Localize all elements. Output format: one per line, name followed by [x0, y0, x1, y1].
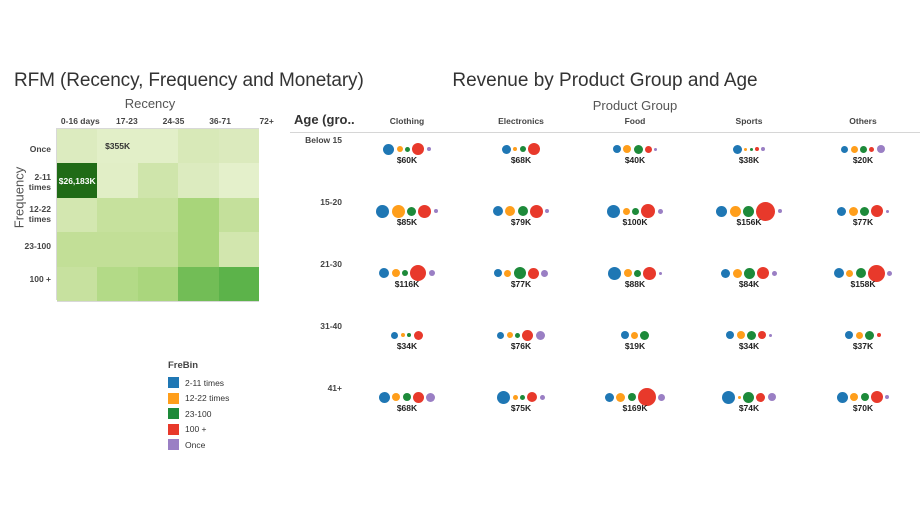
bubble-marker[interactable] — [744, 148, 747, 151]
bubble-cell[interactable]: $76K — [464, 319, 578, 381]
bubble-marker[interactable] — [772, 271, 777, 276]
heatmap-cell[interactable] — [97, 267, 137, 301]
bubble-marker[interactable] — [640, 331, 649, 340]
bubble-value-label: $37K — [806, 341, 920, 351]
bubble-cell[interactable]: $85K — [350, 195, 464, 257]
bubble-marker[interactable] — [659, 272, 662, 275]
bubble-value-label: $77K — [464, 279, 578, 289]
heatmap-cell[interactable] — [138, 232, 178, 266]
bubble-marker[interactable] — [520, 395, 525, 400]
legend-item[interactable]: 23-100 — [168, 406, 288, 422]
bubble-marker[interactable] — [401, 333, 405, 337]
bubble-value-label: $34K — [350, 341, 464, 351]
product-group-column-header[interactable]: Electronics — [464, 116, 578, 126]
bubble-value-label: $70K — [806, 403, 920, 413]
heatmap-cell[interactable] — [219, 163, 259, 197]
bubble-marker[interactable] — [434, 209, 438, 213]
legend-item[interactable]: 100 + — [168, 422, 288, 438]
bubble-marker[interactable] — [837, 207, 846, 216]
bubble-value-label: $77K — [806, 217, 920, 227]
legend-color-swatch — [168, 424, 179, 435]
bubble-marker[interactable] — [528, 268, 539, 279]
revenue-title: Revenue by Product Group and Age — [290, 70, 920, 92]
bubble-cell[interactable]: $37K — [806, 319, 920, 381]
bubble-marker[interactable] — [405, 147, 410, 152]
bubble-marker[interactable] — [502, 145, 511, 154]
bubble-cell[interactable]: $100K — [578, 195, 692, 257]
bubble-marker[interactable] — [530, 205, 543, 218]
bubble-marker[interactable] — [545, 209, 549, 213]
bubble-cell[interactable]: $20K — [806, 133, 920, 195]
legend-item-label: 12-22 times — [185, 393, 229, 403]
legend-item[interactable]: 2-11 times — [168, 375, 288, 391]
heatmap-cell[interactable] — [178, 163, 218, 197]
bubble-marker[interactable] — [743, 392, 754, 403]
bubble-marker[interactable] — [885, 395, 889, 399]
bubble-marker[interactable] — [624, 269, 632, 277]
bubble-marker[interactable] — [426, 393, 435, 402]
product-group-column-header[interactable]: Sports — [692, 116, 806, 126]
bubble-marker[interactable] — [520, 146, 526, 152]
bubble-marker[interactable] — [845, 331, 853, 339]
bubble-cell[interactable]: $34K — [350, 319, 464, 381]
heatmap-cell[interactable] — [57, 232, 97, 266]
heatmap-cell[interactable] — [178, 129, 218, 163]
bubble-marker[interactable] — [768, 393, 776, 401]
bubble-marker[interactable] — [623, 208, 630, 215]
heatmap-cell[interactable] — [219, 129, 259, 163]
bubble-marker[interactable] — [376, 205, 389, 218]
bubble-marker[interactable] — [392, 393, 400, 401]
bubble-marker[interactable] — [536, 331, 545, 340]
heatmap-cell[interactable] — [138, 163, 178, 197]
bubble-cell[interactable]: $77K — [806, 195, 920, 257]
recency-column-headers: 0-16 days17-2324-3536-7172+ — [57, 116, 290, 126]
legend-item[interactable]: Once — [168, 437, 288, 453]
heatmap-cell-label: $355K — [97, 141, 137, 151]
bubble-value-label: $60K — [350, 155, 464, 165]
bubble-marker[interactable] — [522, 330, 533, 341]
revenue-bubble-panel: Revenue by Product Group and Age Product… — [290, 62, 920, 462]
bubble-marker[interactable] — [658, 394, 665, 401]
bubble-cell[interactable]: $77K — [464, 257, 578, 319]
bubble-value-label: $100K — [578, 217, 692, 227]
bubble-marker[interactable] — [851, 146, 858, 153]
heatmap-cell[interactable] — [178, 198, 218, 232]
bubble-marker[interactable] — [877, 333, 881, 337]
bubble-marker[interactable] — [616, 393, 625, 402]
frequency-row-header[interactable]: 100 + — [6, 263, 54, 295]
bubble-marker[interactable] — [733, 145, 742, 154]
bubble-marker[interactable] — [628, 393, 636, 401]
bubble-marker[interactable] — [504, 270, 511, 277]
bubble-cell[interactable]: $79K — [464, 195, 578, 257]
bubble-marker[interactable] — [871, 205, 883, 217]
bubble-marker[interactable] — [391, 332, 398, 339]
legend-title: FreBin — [168, 360, 288, 371]
bubble-value-label: $74K — [692, 403, 806, 413]
heatmap-cell[interactable] — [57, 198, 97, 232]
heatmap-cell[interactable] — [219, 267, 259, 301]
bubble-marker[interactable] — [392, 269, 400, 277]
bubble-marker[interactable] — [747, 331, 756, 340]
age-axis-title: Age (gro.. — [294, 112, 355, 127]
bubble-value-label: $75K — [464, 403, 578, 413]
bubble-value-label: $40K — [578, 155, 692, 165]
heatmap-cell[interactable] — [97, 198, 137, 232]
bubble-marker[interactable] — [623, 145, 631, 153]
legend-color-swatch — [168, 408, 179, 419]
bubble-row: 21-30$116K$77K$88K$84K$158K — [290, 257, 920, 319]
bubble-cell[interactable]: $74K — [692, 381, 806, 443]
bubble-marker[interactable] — [513, 395, 518, 400]
bubble-marker[interactable] — [605, 393, 614, 402]
bubble-marker[interactable] — [871, 391, 883, 403]
bubble-marker[interactable] — [716, 206, 727, 217]
age-row-header[interactable]: Below 15 — [290, 133, 350, 145]
bubble-marker[interactable] — [860, 207, 869, 216]
age-row-header[interactable]: 31-40 — [290, 319, 350, 331]
legend-item-label: 23-100 — [185, 409, 211, 419]
bubble-value-label: $76K — [464, 341, 578, 351]
legend-color-swatch — [168, 377, 179, 388]
product-group-column-headers: ClothingElectronicsFoodSportsOthers — [350, 116, 920, 126]
bubble-marker[interactable] — [613, 145, 621, 153]
bubble-marker[interactable] — [634, 270, 641, 277]
bubble-marker[interactable] — [379, 268, 389, 278]
bubble-cell[interactable]: $68K — [464, 133, 578, 195]
bubble-marker[interactable] — [645, 146, 652, 153]
bubble-marker[interactable] — [856, 332, 863, 339]
bubble-marker[interactable] — [407, 333, 411, 337]
bubble-marker[interactable] — [383, 144, 394, 155]
legend-item-label: 100 + — [185, 424, 207, 434]
bubble-marker[interactable] — [756, 393, 765, 402]
bubble-marker[interactable] — [514, 267, 526, 279]
bubble-marker[interactable] — [632, 208, 639, 215]
bubble-value-label: $156K — [692, 217, 806, 227]
bubble-rows: Below 15$60K$68K$40K$38K$20K15-20$85K$79… — [290, 133, 920, 443]
bubble-marker[interactable] — [392, 205, 405, 218]
bubble-marker[interactable] — [541, 270, 548, 277]
heatmap-cell[interactable]: $26,183K — [57, 163, 97, 197]
bubble-value-label: $34K — [692, 341, 806, 351]
bubble-row: 15-20$85K$79K$100K$156K$77K — [290, 195, 920, 257]
bubble-marker[interactable] — [403, 393, 411, 401]
bubble-marker[interactable] — [631, 332, 638, 339]
bubble-value-label: $79K — [464, 217, 578, 227]
bubble-marker[interactable] — [722, 391, 735, 404]
bubble-marker[interactable] — [528, 143, 540, 155]
product-group-column-header[interactable]: Food — [578, 116, 692, 126]
recency-column-header[interactable]: 36-71 — [197, 116, 244, 126]
bubble-marker[interactable] — [755, 147, 759, 151]
bubble-marker[interactable] — [856, 268, 866, 278]
legend-item[interactable]: 12-22 times — [168, 391, 288, 407]
bubble-marker[interactable] — [497, 332, 504, 339]
bubble-marker[interactable] — [778, 209, 782, 213]
bubble-marker[interactable] — [515, 333, 520, 338]
heatmap-cell-label: $26,183K — [57, 176, 97, 186]
bubble-value-label: $169K — [578, 403, 692, 413]
bubble-value-label: $68K — [464, 155, 578, 165]
heatmap-cell[interactable] — [97, 232, 137, 266]
legend-item-label: Once — [185, 440, 205, 450]
bubble-marker[interactable] — [837, 392, 848, 403]
frequency-row-header[interactable]: 12-22times — [6, 198, 54, 230]
recency-column-header[interactable]: 0-16 days — [57, 116, 104, 126]
bubble-marker[interactable] — [429, 270, 435, 276]
age-row-header[interactable]: 21-30 — [290, 257, 350, 269]
bubble-marker[interactable] — [413, 392, 424, 403]
recency-axis-title: Recency — [14, 96, 286, 111]
rfm-heatmap-panel: RFM (Recency, Frequency and Monetary) Re… — [0, 62, 300, 302]
bubble-marker[interactable] — [493, 206, 503, 216]
bubble-marker[interactable] — [407, 207, 416, 216]
bubble-marker[interactable] — [850, 393, 858, 401]
bubble-value-label: $38K — [692, 155, 806, 165]
bubble-marker[interactable] — [505, 206, 515, 216]
bubble-cell[interactable]: $68K — [350, 381, 464, 443]
bubble-cell[interactable]: $84K — [692, 257, 806, 319]
bubble-cell[interactable]: $19K — [578, 319, 692, 381]
recency-column-header[interactable]: 17-23 — [104, 116, 151, 126]
bubble-marker[interactable] — [750, 148, 753, 151]
bubble-marker[interactable] — [869, 147, 874, 152]
bubble-cell[interactable]: $158K — [806, 257, 920, 319]
bubble-marker[interactable] — [397, 146, 403, 152]
bubble-marker[interactable] — [414, 331, 423, 340]
bubble-marker[interactable] — [758, 331, 766, 339]
bubble-marker[interactable] — [849, 207, 858, 216]
bubble-value-label: $116K — [350, 279, 464, 289]
bubble-cell[interactable]: $60K — [350, 133, 464, 195]
bubble-marker[interactable] — [860, 146, 867, 153]
bubble-marker[interactable] — [865, 331, 874, 340]
bubble-marker[interactable] — [418, 205, 431, 218]
bubble-marker[interactable] — [513, 147, 517, 151]
heatmap-cell[interactable] — [219, 232, 259, 266]
bubble-marker[interactable] — [761, 147, 765, 151]
heatmap-cell[interactable] — [178, 267, 218, 301]
legend-color-swatch — [168, 439, 179, 450]
heatmap-cell[interactable] — [219, 198, 259, 232]
heatmap-cell[interactable] — [138, 267, 178, 301]
legend-item-label: 2-11 times — [185, 378, 224, 388]
bubble-value-label: $158K — [806, 279, 920, 289]
dashboard: RFM (Recency, Frequency and Monetary) Re… — [0, 0, 920, 518]
heatmap-cell[interactable] — [178, 232, 218, 266]
heatmap-cell[interactable] — [57, 267, 97, 301]
heatmap-cell[interactable] — [57, 129, 97, 163]
bubble-row: 31-40$34K$76K$19K$34K$37K — [290, 319, 920, 381]
bubble-marker[interactable] — [518, 206, 528, 216]
bubble-marker[interactable] — [658, 209, 663, 214]
bubble-marker[interactable] — [402, 270, 408, 276]
bubble-marker[interactable] — [733, 269, 742, 278]
heatmap-cell[interactable] — [138, 129, 178, 163]
product-group-column-header[interactable]: Others — [806, 116, 920, 126]
bubble-marker[interactable] — [726, 331, 734, 339]
frequency-row-header[interactable]: 23-100 — [6, 230, 54, 262]
bubble-marker[interactable] — [887, 271, 892, 276]
bubble-cell[interactable]: $75K — [464, 381, 578, 443]
bubble-marker[interactable] — [841, 146, 848, 153]
bubble-marker[interactable] — [540, 395, 545, 400]
age-row-header[interactable]: 41+ — [290, 381, 350, 393]
bubble-marker[interactable] — [412, 143, 424, 155]
bubble-marker[interactable] — [607, 205, 620, 218]
legend-items: 2-11 times12-22 times23-100100 +Once — [168, 375, 288, 453]
bubble-marker[interactable] — [507, 332, 513, 338]
frebin-legend: FreBin 2-11 times12-22 times23-100100 +O… — [168, 360, 288, 453]
bubble-cell[interactable]: $116K — [350, 257, 464, 319]
bubble-marker[interactable] — [737, 331, 745, 339]
frequency-row-header[interactable]: 2-11times — [6, 165, 54, 197]
bubble-marker[interactable] — [769, 334, 772, 337]
bubble-marker[interactable] — [730, 206, 741, 217]
bubble-marker[interactable] — [497, 391, 510, 404]
bubble-marker[interactable] — [621, 331, 629, 339]
recency-column-header[interactable]: 72+ — [243, 116, 290, 126]
bubble-value-label: $68K — [350, 403, 464, 413]
bubble-marker[interactable] — [743, 206, 754, 217]
bubble-marker[interactable] — [634, 145, 643, 154]
legend-color-swatch — [168, 393, 179, 404]
bubble-row: Below 15$60K$68K$40K$38K$20K — [290, 133, 920, 195]
bubble-marker[interactable] — [527, 392, 537, 402]
bubble-marker[interactable] — [494, 269, 502, 277]
recency-column-header[interactable]: 24-35 — [150, 116, 197, 126]
frequency-row-headers: Once2-11times12-22times23-100100 + — [6, 133, 54, 295]
bubble-marker[interactable] — [877, 145, 885, 153]
bubble-marker[interactable] — [834, 268, 844, 278]
bubble-value-label: $20K — [806, 155, 920, 165]
bubble-cell[interactable]: $169K — [578, 381, 692, 443]
bubble-cell[interactable]: $34K — [692, 319, 806, 381]
bubble-marker[interactable] — [757, 267, 769, 279]
heatmap-grid: $355K$26,183K — [57, 128, 259, 302]
heatmap-cell[interactable] — [138, 198, 178, 232]
heatmap-cell[interactable]: $355K — [97, 129, 137, 163]
bubble-cell[interactable]: $40K — [578, 133, 692, 195]
bubble-marker[interactable] — [846, 270, 853, 277]
bubble-cell[interactable]: $88K — [578, 257, 692, 319]
bubble-marker[interactable] — [861, 393, 869, 401]
bubble-marker[interactable] — [721, 269, 730, 278]
bubble-marker[interactable] — [744, 268, 755, 279]
bubble-value-label: $19K — [578, 341, 692, 351]
frequency-row-header[interactable]: Once — [6, 133, 54, 165]
bubble-marker[interactable] — [886, 210, 889, 213]
bubble-value-label: $84K — [692, 279, 806, 289]
bubble-value-label: $88K — [578, 279, 692, 289]
heatmap-cell[interactable] — [97, 163, 137, 197]
bubble-marker[interactable] — [427, 147, 431, 151]
product-group-column-header[interactable]: Clothing — [350, 116, 464, 126]
bubble-marker[interactable] — [608, 267, 621, 280]
bubble-marker[interactable] — [738, 396, 741, 399]
bubble-marker[interactable] — [641, 204, 655, 218]
product-group-axis-title: Product Group — [350, 98, 920, 113]
bubble-marker[interactable] — [643, 267, 656, 280]
bubble-cell[interactable]: $156K — [692, 195, 806, 257]
bubble-marker[interactable] — [379, 392, 390, 403]
bubble-cell[interactable]: $70K — [806, 381, 920, 443]
bubble-value-label: $85K — [350, 217, 464, 227]
age-row-header[interactable]: 15-20 — [290, 195, 350, 207]
bubble-row: 41+$68K$75K$169K$74K$70K — [290, 381, 920, 443]
bubble-marker[interactable] — [654, 148, 657, 151]
bubble-cell[interactable]: $38K — [692, 133, 806, 195]
